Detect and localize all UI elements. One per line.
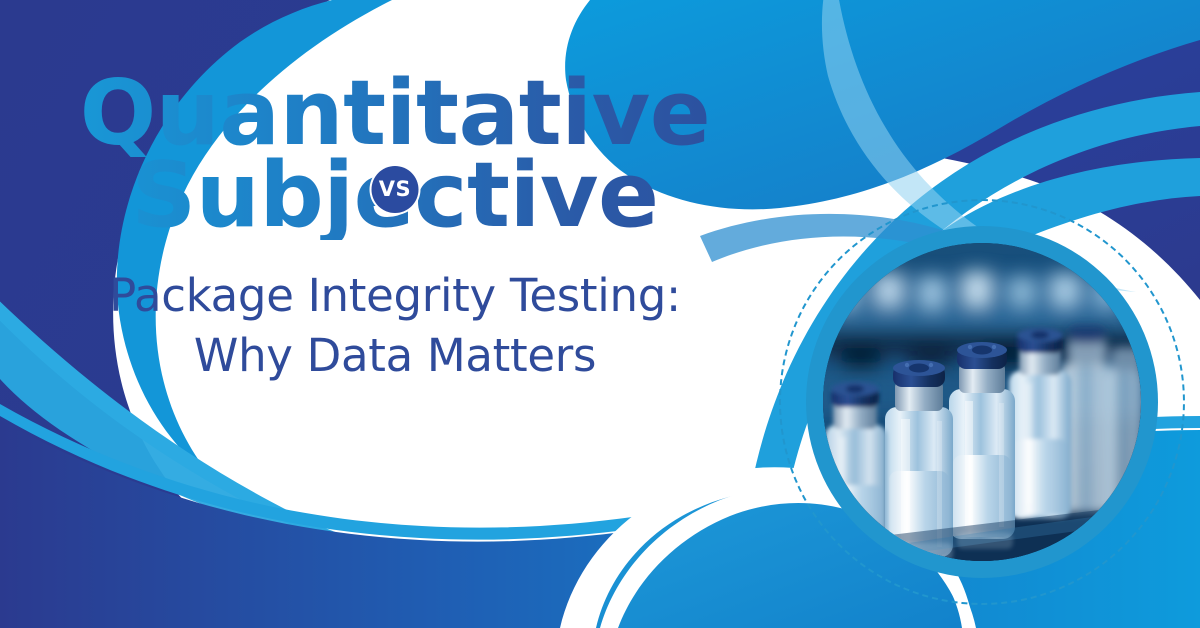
marketing-banner: Quantitative Subjective VS Package Integ…: [0, 0, 1200, 628]
circular-photo: [806, 226, 1158, 578]
dashed-outline-ring: [779, 199, 1185, 605]
